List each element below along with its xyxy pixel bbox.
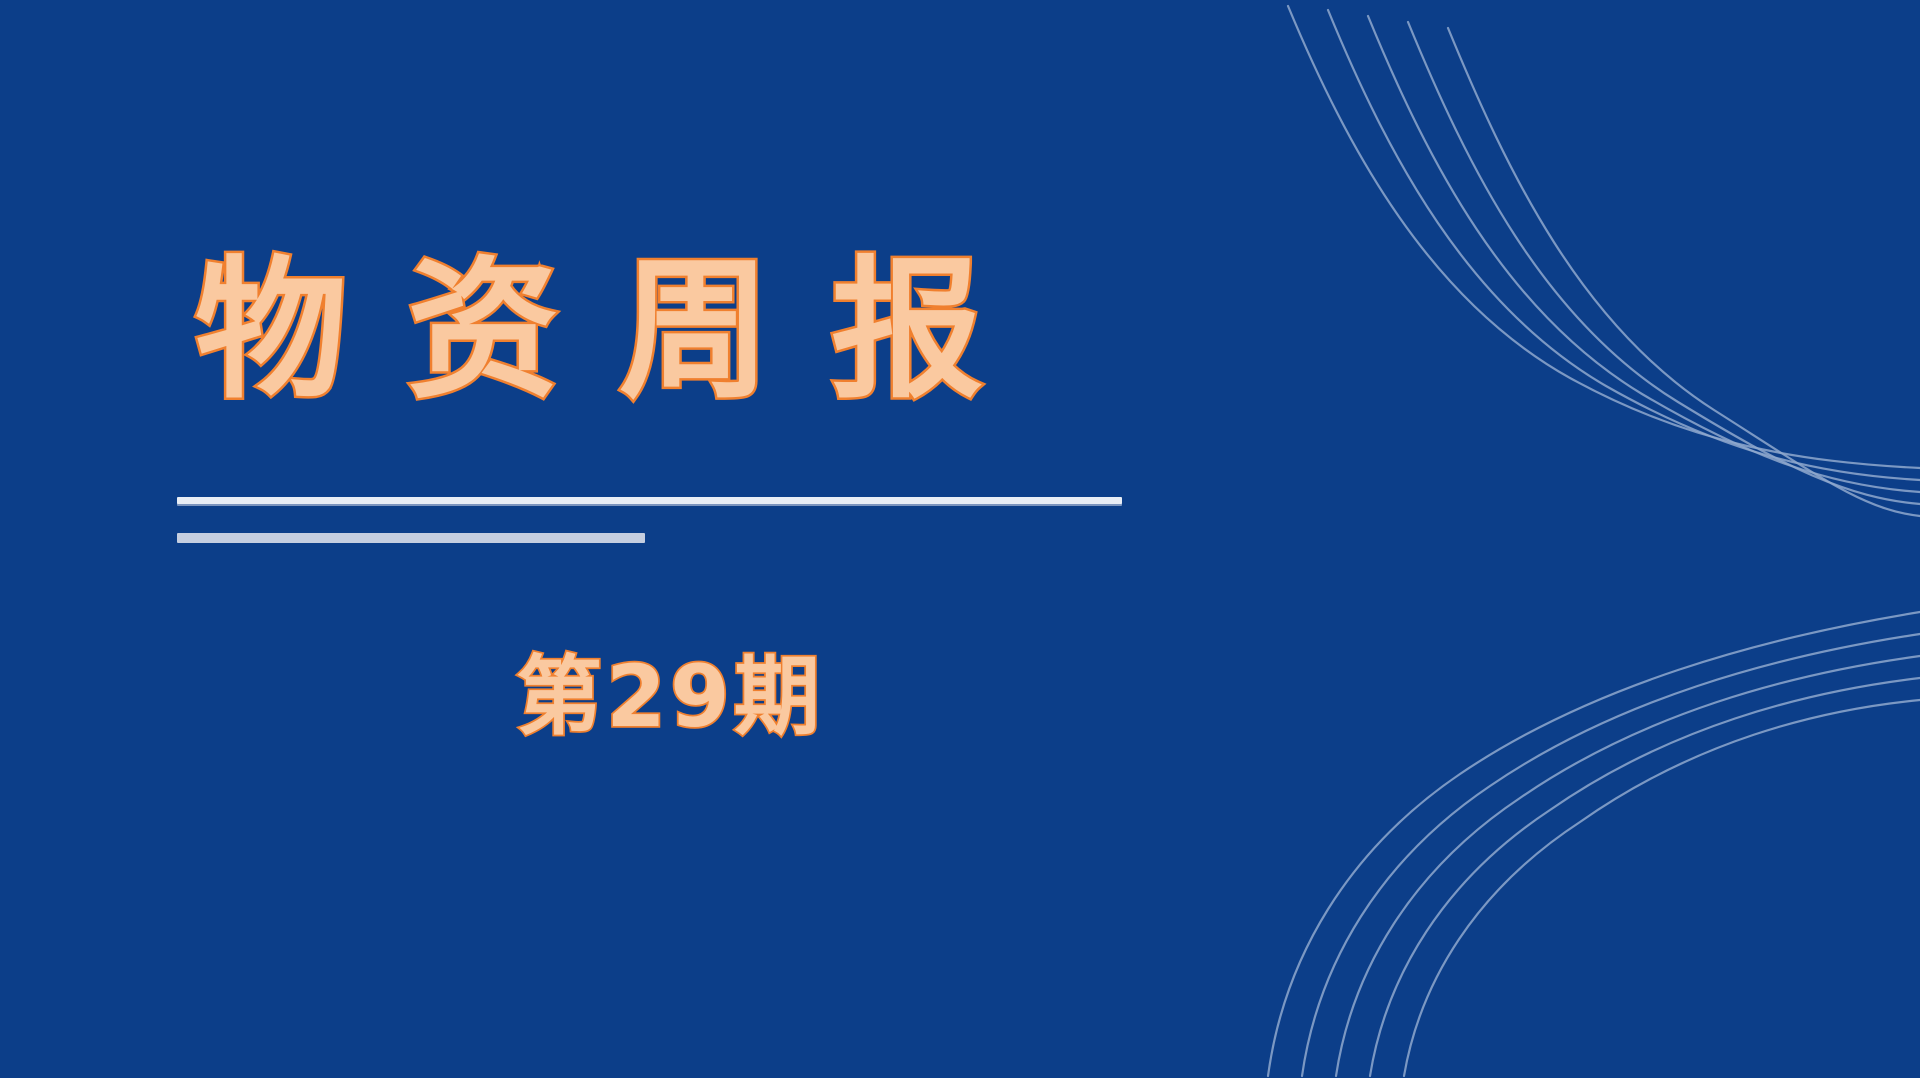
subtitle-block: 第29期	[0, 650, 1340, 745]
title-block: 物资周报	[177, 255, 1177, 407]
page-title: 物资周报	[195, 255, 1177, 407]
title-underline-secondary	[177, 533, 645, 543]
title-underline-group	[177, 497, 1137, 543]
wave-lines-top-right-icon	[1100, 0, 1920, 520]
cover-slide: 物资周报 第29期	[0, 0, 1920, 1078]
title-underline-primary	[177, 497, 1122, 504]
issue-number-label: 第29期	[516, 650, 824, 745]
wave-lines-bottom-right-icon	[1260, 598, 1920, 1078]
